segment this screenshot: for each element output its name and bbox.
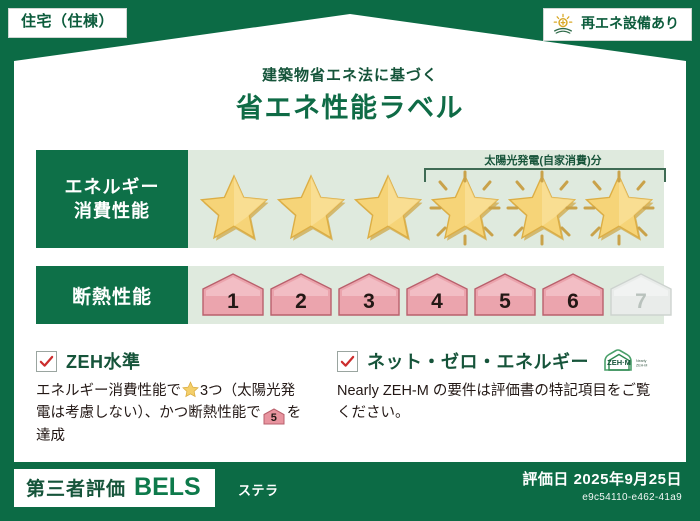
star-solar — [581, 170, 657, 246]
solar-bracket-caption: 太陽光発電(自家消費)分 — [424, 152, 662, 168]
insulation-level-3: 3 — [336, 272, 402, 318]
inline-star-icon — [182, 381, 199, 398]
net-zero-checkbox[interactable] — [337, 351, 358, 372]
star-icon — [273, 170, 349, 246]
evaluation-meta: 評価日 2025年9月25日 e9c54110-e462-41a9 — [522, 468, 682, 503]
bels-logo-text: BELS — [134, 475, 201, 500]
star-filled — [196, 170, 272, 246]
energy-row-body: 太陽光発電(自家消費)分 — [188, 150, 664, 248]
check-icon — [39, 354, 54, 369]
insulation-level-4: 4 — [404, 272, 470, 318]
solar-sun-icon — [552, 13, 574, 35]
inline-house-value: 5 — [263, 408, 285, 428]
zeh-standard-header: ZEH水準 — [36, 348, 303, 374]
criteria-sections: ZEH水準 エネルギー消費性能で3つ（太陽光発電は考慮しない）、かつ断熱性能で5… — [36, 348, 664, 448]
star-filled — [273, 170, 349, 246]
bels-footer-box: 第三者評価 BELS — [14, 469, 215, 507]
energy-row-label: エネルギー 消費性能 — [36, 150, 188, 248]
building-type-tab: 住宅（住棟） — [8, 8, 127, 38]
evaluation-id: e9c54110-e462-41a9 — [522, 492, 682, 503]
brand-name: ステラ — [238, 480, 279, 499]
net-zero-header: ネット・ゼロ・エネルギー ZEH·M Nearly ZEH-M — [337, 348, 654, 374]
star-icon — [196, 170, 272, 246]
insulation-row-label: 断熱性能 — [36, 266, 188, 324]
insulation-label-text: 断熱性能 — [72, 282, 152, 309]
star-icon — [427, 170, 503, 246]
net-zero-title: ネット・ゼロ・エネルギー — [367, 348, 589, 374]
third-party-label: 第三者評価 — [26, 474, 126, 501]
net-zero-energy-section: ネット・ゼロ・エネルギー ZEH·M Nearly ZEH-M Nearly Z… — [313, 348, 664, 448]
svg-text:ZEH-M: ZEH-M — [636, 364, 647, 368]
label-subtitle: 建築物省エネ法に基づく — [0, 64, 700, 85]
star-icon — [350, 170, 426, 246]
check-icon — [340, 354, 355, 369]
renewable-badge-label: 再エネ設備あり — [581, 16, 679, 31]
star-filled — [350, 170, 426, 246]
insulation-level-1: 1 — [200, 272, 266, 318]
energy-performance-label: 住宅（住棟） 再エネ設備あり 建築物省エネ法に基づく 省エネ性能ラベル エネルギ… — [0, 0, 700, 521]
insulation-performance-row: 断熱性能 1234567 — [36, 266, 664, 324]
star-solar — [427, 170, 503, 246]
zeh-standard-section: ZEH水準 エネルギー消費性能で3つ（太陽光発電は考慮しない）、かつ断熱性能で5… — [36, 348, 313, 448]
zeh-standard-body: エネルギー消費性能で3つ（太陽光発電は考慮しない）、かつ断熱性能で5を達成 — [36, 380, 303, 448]
insulation-level-6: 6 — [540, 272, 606, 318]
insulation-level-5: 5 — [472, 272, 538, 318]
star-solar — [504, 170, 580, 246]
svg-text:Nearly: Nearly — [636, 359, 647, 363]
energy-performance-row: エネルギー 消費性能 太陽光発電(自家消費)分 — [36, 150, 664, 248]
insulation-row-body: 1234567 — [188, 266, 664, 324]
label-title: 省エネ性能ラベル — [0, 86, 700, 125]
evaluation-date: 評価日 2025年9月25日 — [522, 468, 682, 489]
net-zero-body: Nearly ZEH-M の要件は評価書の特記項目をご覧ください。 — [337, 380, 654, 425]
star-icon — [581, 170, 657, 246]
zeh-standard-title: ZEH水準 — [66, 348, 141, 374]
energy-label-line2: 消費性能 — [74, 199, 150, 223]
star-rating — [196, 170, 657, 246]
svg-text:ZEH·M: ZEH·M — [607, 358, 631, 367]
renewable-equipment-badge: 再エネ設備あり — [543, 8, 692, 41]
energy-label-line1: エネルギー — [65, 175, 160, 199]
insulation-level-scale: 1234567 — [200, 272, 674, 318]
zeh-body-part1: エネルギー消費性能で — [36, 383, 181, 399]
star-icon — [504, 170, 580, 246]
insulation-level-7: 7 — [608, 272, 674, 318]
insulation-level-2: 2 — [268, 272, 334, 318]
zeh-m-logo-icon: ZEH·M Nearly ZEH-M — [602, 348, 654, 374]
inline-house-badge: 5 — [263, 408, 285, 425]
zeh-standard-checkbox[interactable] — [36, 351, 57, 372]
